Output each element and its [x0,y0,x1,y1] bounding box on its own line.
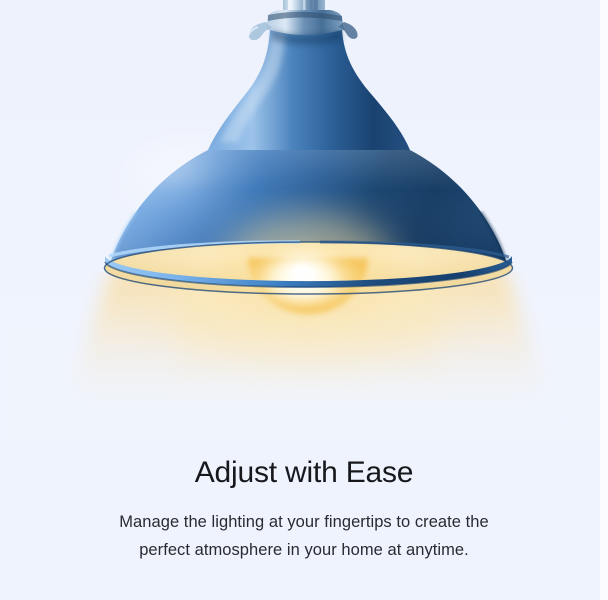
pendant-lamp-illustration [0,0,608,440]
description-line-2: perfect atmosphere in your home at anyti… [0,536,608,564]
lamp-svg [0,0,608,440]
promo-page: Adjust with Ease Manage the lighting at … [0,0,608,600]
description: Manage the lighting at your fingertips t… [0,492,608,564]
light-bulb [222,214,394,318]
bulb-filament-hotspot [290,264,316,284]
caption-block: Adjust with Ease Manage the lighting at … [0,440,608,564]
right-edge-strip [600,0,608,600]
description-line-1: Manage the lighting at your fingertips t… [0,508,608,536]
page-title: Adjust with Ease [0,440,608,492]
